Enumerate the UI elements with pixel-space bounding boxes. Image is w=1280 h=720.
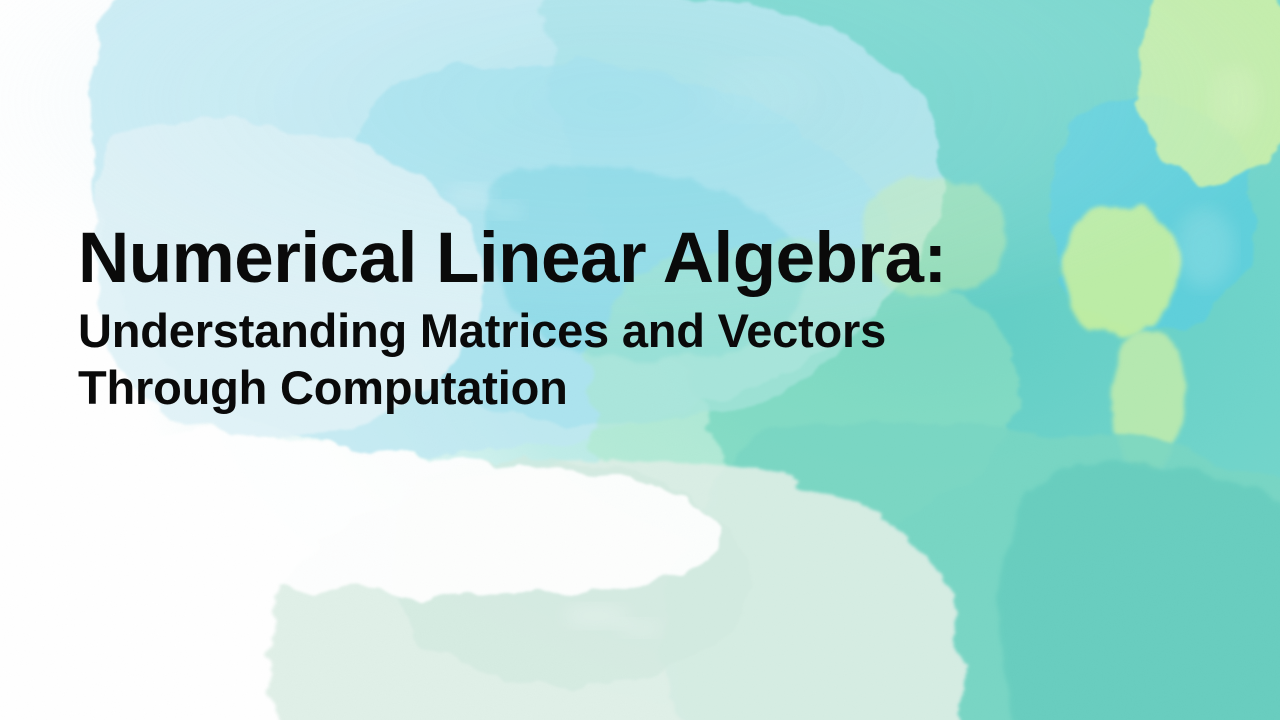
page-subtitle: Understanding Matrices and Vectors Throu…: [78, 296, 1058, 416]
page-subtitle-line-1: Understanding Matrices and Vectors: [78, 302, 1058, 359]
title-text-block: Numerical Linear Algebra: Understanding …: [78, 222, 1058, 416]
title-slide: Numerical Linear Algebra: Understanding …: [0, 0, 1280, 720]
page-subtitle-line-2: Through Computation: [78, 359, 1058, 416]
page-title: Numerical Linear Algebra:: [78, 222, 1058, 296]
